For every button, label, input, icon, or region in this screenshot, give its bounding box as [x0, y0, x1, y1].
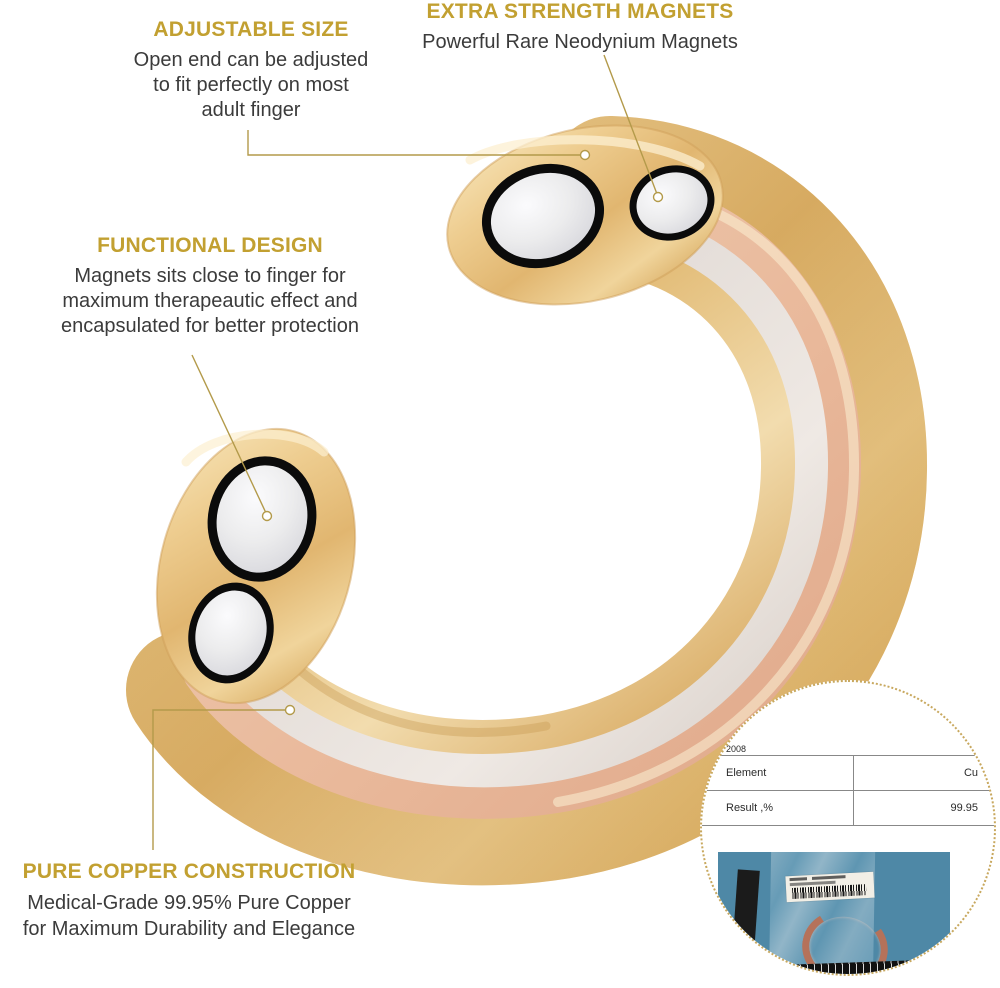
leader-dot-adjustable-size — [581, 151, 590, 160]
callout-adjustable-size-body: Open end can be adjusted to fit perfectl… — [96, 48, 406, 123]
callout-functional-design-title: FUNCTIONAL DESIGN — [25, 234, 395, 258]
product-infographic: ADJUSTABLE SIZE Open end can be adjusted… — [0, 0, 1000, 988]
callout-functional-design-body: Magnets sits close to finger for maximum… — [25, 264, 395, 339]
callout-pure-copper-construction: PURE COPPER CONSTRUCTION Medical-Grade 9… — [0, 860, 378, 942]
callout-line: Magnets sits close to finger for — [25, 264, 395, 289]
table-row: Result ,% 99.95 — [702, 790, 994, 825]
callout-adjustable-size-title: ADJUSTABLE SIZE — [96, 18, 406, 42]
certificate-table: 2008 Element Cu Result ,% 99.95 — [702, 744, 994, 826]
product-packaging-photo — [716, 850, 952, 976]
table-row: Element Cu — [702, 755, 994, 790]
callout-line: Open end can be adjusted — [96, 48, 406, 73]
callout-line: to fit perfectly on most — [96, 73, 406, 98]
leader-adjustable-size — [248, 130, 580, 155]
callout-line: Powerful Rare Neodynium Magnets — [380, 30, 780, 55]
table-cell-label: Element — [702, 756, 854, 790]
certificate-year: 2008 — [702, 744, 994, 755]
callout-line: for Maximum Durability and Elegance — [0, 916, 378, 942]
certificate-inset: 2008 Element Cu Result ,% 99.95 — [700, 680, 996, 976]
callout-adjustable-size: ADJUSTABLE SIZE Open end can be adjusted… — [96, 18, 406, 123]
barcode-label — [785, 872, 874, 903]
leader-dot-extra-strength — [654, 193, 663, 202]
table-cell-value: 99.95 — [854, 802, 994, 814]
table-bottom-rule — [702, 825, 994, 826]
barcode-icon — [792, 884, 866, 899]
leader-extra-strength — [604, 55, 657, 194]
callout-extra-strength-magnets-title: EXTRA STRENGTH MAGNETS — [380, 0, 780, 24]
callout-line: adult finger — [96, 98, 406, 123]
callout-line: maximum therapeautic effect and — [25, 289, 395, 314]
table-cell-value: Cu — [854, 767, 994, 779]
leader-dot-pure-copper — [286, 706, 295, 715]
callout-pure-copper-construction-title: PURE COPPER CONSTRUCTION — [0, 860, 378, 884]
leader-dot-functional-design — [263, 512, 272, 521]
callout-extra-strength-magnets: EXTRA STRENGTH MAGNETS Powerful Rare Neo… — [380, 0, 780, 55]
callout-extra-strength-magnets-body: Powerful Rare Neodynium Magnets — [380, 30, 780, 55]
leader-pure-copper — [153, 710, 285, 850]
callout-pure-copper-construction-body: Medical-Grade 99.95% Pure Copper for Max… — [0, 890, 378, 942]
callout-line: encapsulated for better protection — [25, 314, 395, 339]
callout-line: Medical-Grade 99.95% Pure Copper — [0, 890, 378, 916]
callout-functional-design: FUNCTIONAL DESIGN Magnets sits close to … — [25, 234, 395, 339]
leader-functional-design — [192, 355, 266, 513]
table-cell-label: Result ,% — [702, 791, 854, 825]
ruler-vertical — [730, 869, 760, 976]
